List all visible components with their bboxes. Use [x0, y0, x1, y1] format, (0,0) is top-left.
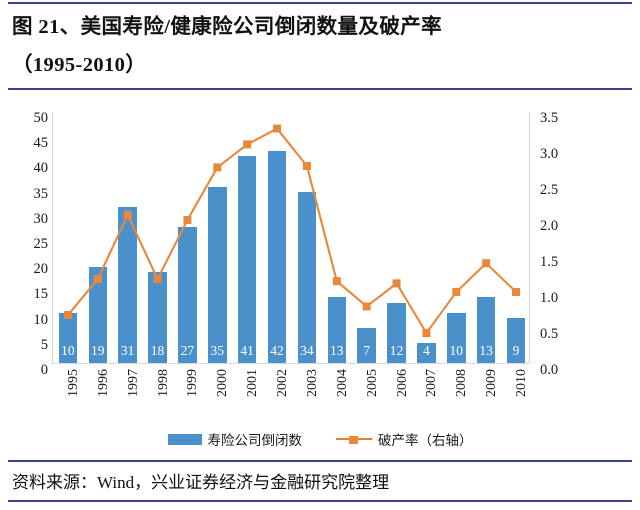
- title-divider-top: [8, 2, 632, 4]
- line-marker-2004[interactable]: [333, 277, 341, 285]
- left-tick-20: 20: [14, 263, 48, 275]
- x-axis-label-1999: 1999: [171, 376, 201, 390]
- line-marker-2001[interactable]: [243, 140, 251, 148]
- line-path-bankruptcy-rate: [68, 129, 516, 333]
- line-marker-2002[interactable]: [273, 125, 281, 133]
- left-tick-35: 35: [14, 188, 48, 200]
- legend-label-bars: 寿险公司倒闭数: [208, 429, 303, 449]
- x-axis-label-text: 1997: [126, 359, 142, 407]
- x-axis-label-2009: 2009: [470, 376, 500, 390]
- line-marker-1999[interactable]: [183, 216, 191, 224]
- line-marker-2007[interactable]: [422, 329, 430, 337]
- source-divider-top: [8, 460, 632, 462]
- x-axis-label-2004: 2004: [321, 376, 351, 390]
- x-axis-label-text: 2010: [514, 359, 530, 407]
- line-series-layer: [53, 112, 531, 364]
- x-axis-label-2001: 2001: [231, 376, 261, 390]
- line-marker-2003[interactable]: [303, 162, 311, 170]
- x-axis-label-text: 2006: [395, 359, 411, 407]
- left-tick-25: 25: [14, 238, 48, 250]
- x-axis-label-2007: 2007: [410, 376, 440, 390]
- x-axis-label-text: 1996: [96, 359, 112, 407]
- right-axis-ticks: 3.53.02.52.01.51.00.50.0: [540, 106, 582, 370]
- left-tick-10: 10: [14, 314, 48, 326]
- left-tick-45: 45: [14, 137, 48, 149]
- right-tick-0.0: 0.0: [540, 364, 558, 376]
- chart-figure: 图 21、美国寿险/健康险公司倒闭数量及破产率 （1995-2010） 家 % …: [0, 0, 640, 510]
- legend-bar-swatch-icon: [168, 434, 202, 445]
- x-axis-label-text: 1995: [66, 359, 82, 407]
- x-axis-label-text: 2003: [305, 359, 321, 407]
- line-marker-1996[interactable]: [94, 275, 102, 283]
- line-marker-2005[interactable]: [363, 302, 371, 310]
- x-axis-label-text: 1998: [156, 359, 172, 407]
- left-tick-0: 0: [14, 364, 48, 376]
- x-axis-label-1997: 1997: [112, 376, 142, 390]
- x-axis-label-2008: 2008: [440, 376, 470, 390]
- x-axis-label-2002: 2002: [261, 376, 291, 390]
- x-axis-labels: 1995199619971998199920002001200220032004…: [52, 368, 530, 426]
- left-tick-30: 30: [14, 213, 48, 225]
- legend-line-swatch-icon: [336, 434, 372, 445]
- x-axis-label-1996: 1996: [82, 376, 112, 390]
- x-axis-label-text: 2005: [365, 359, 381, 407]
- line-marker-1995[interactable]: [64, 311, 72, 319]
- x-axis-label-text: 2008: [454, 359, 470, 407]
- x-axis-label-1998: 1998: [142, 376, 172, 390]
- figure-title-line-2: （1995-2010）: [12, 46, 628, 84]
- chart-canvas: 家 % 50454035302520151050 3.53.02.52.01.5…: [0, 96, 640, 458]
- x-axis-label-text: 1999: [185, 359, 201, 407]
- x-axis-label-1995: 1995: [52, 376, 82, 390]
- right-tick-0.5: 0.5: [540, 328, 558, 340]
- line-marker-2006[interactable]: [393, 279, 401, 287]
- legend-item-bars[interactable]: 寿险公司倒闭数: [168, 429, 303, 449]
- line-marker-2000[interactable]: [213, 163, 221, 171]
- x-axis-label-2010: 2010: [500, 376, 530, 390]
- x-axis-label-text: 2002: [275, 359, 291, 407]
- legend-item-line[interactable]: 破产率（右轴）: [336, 429, 473, 449]
- figure-title: 图 21、美国寿险/健康险公司倒闭数量及破产率 （1995-2010）: [12, 8, 628, 84]
- x-axis-label-text: 2000: [215, 359, 231, 407]
- x-axis-label-2006: 2006: [381, 376, 411, 390]
- title-divider-bottom: [8, 88, 632, 90]
- line-marker-1998[interactable]: [154, 275, 162, 283]
- legend-label-line: 破产率（右轴）: [378, 429, 473, 449]
- x-axis-label-2005: 2005: [351, 376, 381, 390]
- right-tick-3.0: 3.0: [540, 148, 558, 160]
- x-axis-label-text: 2009: [484, 359, 500, 407]
- plot-area: 10193118273541423413712410139: [52, 112, 530, 364]
- right-tick-2.0: 2.0: [540, 220, 558, 232]
- chart-legend: 寿险公司倒闭数 破产率（右轴）: [0, 426, 640, 452]
- left-tick-5: 5: [14, 339, 48, 351]
- source-divider-bottom: [8, 500, 632, 502]
- x-axis-label-text: 2007: [424, 359, 440, 407]
- x-axis-label-2003: 2003: [291, 376, 321, 390]
- left-tick-50: 50: [14, 112, 48, 124]
- figure-title-line-1: 图 21、美国寿险/健康险公司倒闭数量及破产率: [12, 8, 628, 46]
- line-marker-2010[interactable]: [512, 288, 520, 296]
- left-tick-15: 15: [14, 288, 48, 300]
- x-axis-label-text: 2001: [245, 359, 261, 407]
- left-tick-40: 40: [14, 162, 48, 174]
- x-axis-label-2000: 2000: [201, 376, 231, 390]
- right-tick-3.5: 3.5: [540, 112, 558, 124]
- right-tick-2.5: 2.5: [540, 184, 558, 196]
- line-marker-2009[interactable]: [482, 259, 490, 267]
- x-axis-label-text: 2004: [335, 359, 351, 407]
- line-marker-1997[interactable]: [124, 211, 132, 219]
- left-axis-ticks: 50454035302520151050: [14, 106, 48, 370]
- line-marker-2008[interactable]: [452, 288, 460, 296]
- right-tick-1.5: 1.5: [540, 256, 558, 268]
- source-note: 资料来源：Wind，兴业证券经济与金融研究院整理: [12, 468, 628, 493]
- right-tick-1.0: 1.0: [540, 292, 558, 304]
